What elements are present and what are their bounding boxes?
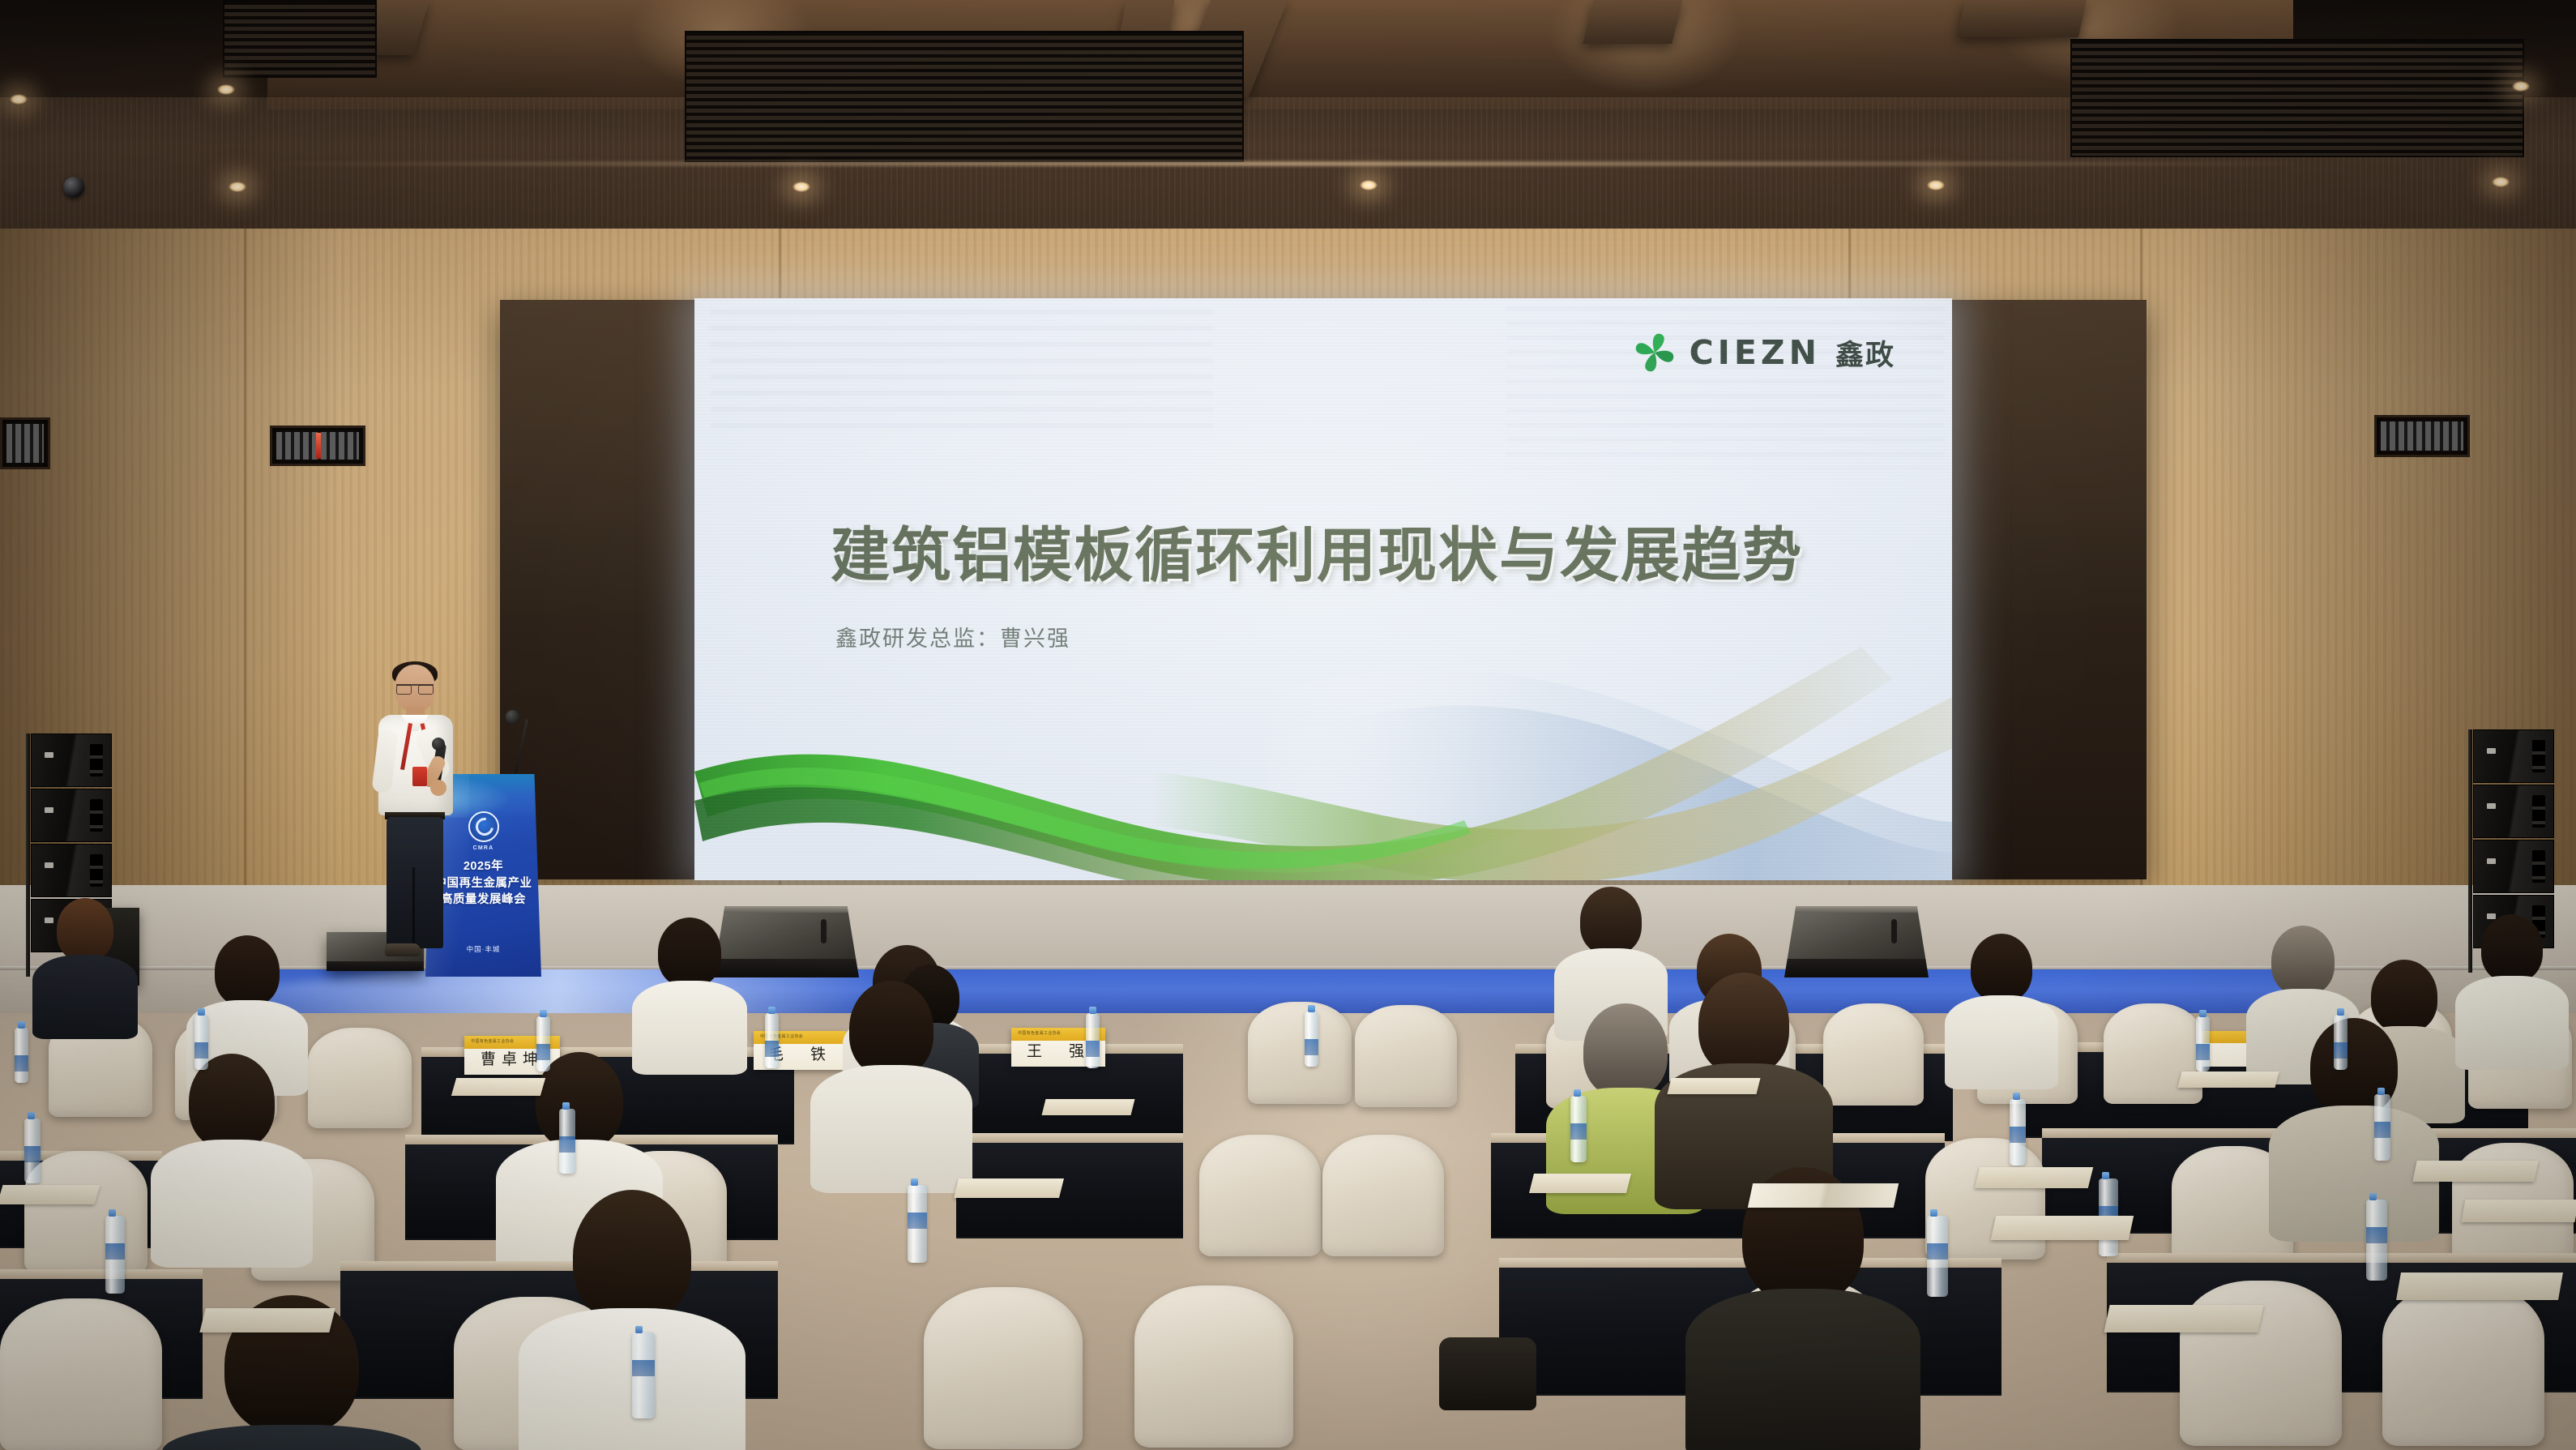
water-bottle	[908, 1185, 927, 1263]
presenter-shoe	[385, 943, 421, 956]
speaker-badge	[45, 807, 53, 813]
logo-chinese-name: 鑫政	[1835, 332, 1895, 374]
ceiling-downlight	[229, 182, 246, 192]
conference-hall-photo: CIEZN 鑫政 建筑铝模板循环利用现状与发展趋势 鑫政研发总监：曹兴强	[0, 0, 2576, 1450]
notepad	[1529, 1174, 1631, 1193]
speaker-rigging	[26, 734, 30, 977]
placard-band-text: 中国有色金属工业协会	[471, 1038, 514, 1044]
audience-torso	[151, 1140, 313, 1268]
ceiling-downlight	[2492, 177, 2510, 187]
audience-head	[2481, 914, 2543, 982]
notepad	[954, 1178, 1064, 1198]
slide-subtitle: 鑫政研发总监：曹兴强	[835, 621, 1070, 652]
chair	[1199, 1135, 1321, 1256]
cmra-circle-icon	[468, 811, 499, 842]
ceiling-downlight	[10, 94, 28, 105]
water-bottle	[1086, 1013, 1100, 1068]
notepad	[2462, 1200, 2576, 1222]
monitor-top	[713, 906, 859, 913]
audience-head	[2271, 926, 2335, 995]
audience-torso	[810, 1065, 972, 1193]
speaker-badge	[2487, 858, 2496, 864]
audience-person	[632, 917, 747, 1068]
audience-torso	[1685, 1289, 1920, 1450]
ceiling-air-vent	[223, 0, 377, 78]
chair	[308, 1028, 412, 1128]
table-surface	[2107, 1253, 2576, 1263]
ceiling-air-vent	[2070, 39, 2524, 157]
water-bottle	[105, 1216, 125, 1294]
water-bottle	[1927, 1216, 1948, 1297]
cmra-arc	[472, 815, 497, 840]
screen-ghost-artifact	[711, 310, 1213, 431]
audience-torso	[1945, 995, 2058, 1089]
water-bottle	[632, 1332, 655, 1418]
speaker-badge	[2487, 803, 2496, 809]
notepad	[2178, 1071, 2279, 1088]
monitor-handle	[821, 919, 827, 943]
ceiling-downlight	[1927, 180, 1945, 190]
audience-person	[1685, 1167, 1920, 1450]
open-document	[1748, 1183, 1899, 1208]
water-bottle	[2334, 1015, 2347, 1070]
ceiling-downlight	[217, 84, 235, 95]
chair	[1248, 1002, 1352, 1104]
stage-monitor-speaker	[1784, 906, 1929, 977]
audience-head	[1971, 934, 2032, 1002]
water-bottle	[1570, 1096, 1587, 1162]
chair	[1355, 1005, 1457, 1107]
water-bottle	[194, 1015, 208, 1070]
notepad	[1991, 1216, 2134, 1240]
wall-display-fixture	[270, 426, 365, 466]
speaker-badge	[45, 752, 53, 758]
notepad	[199, 1308, 335, 1332]
fixture-fins	[6, 424, 44, 463]
audience-head	[849, 981, 933, 1076]
water-bottle	[559, 1109, 575, 1174]
placard-band-text: 中国有色金属工业协会	[1018, 1030, 1061, 1036]
monitor-handle	[1891, 919, 1897, 943]
notepad	[2396, 1272, 2563, 1300]
notepad	[451, 1078, 545, 1096]
notepad	[1975, 1167, 2093, 1188]
fixture-fins	[2381, 421, 2463, 451]
slide-brand-logo: CIEZN 鑫政	[1631, 329, 1895, 376]
speaker-cabinet	[2473, 840, 2554, 893]
audience-head	[215, 935, 280, 1007]
table-surface	[0, 1269, 203, 1279]
presenter-trousers	[387, 817, 443, 948]
water-bottle	[765, 1013, 779, 1068]
chair	[0, 1298, 162, 1450]
wall-display-fixture	[2374, 415, 2470, 457]
notepad	[1668, 1078, 1761, 1094]
presenter-badge	[412, 767, 427, 786]
audience-person	[151, 1054, 313, 1256]
presentation-screen: CIEZN 鑫政 建筑铝模板循环利用现状与发展趋势 鑫政研发总监：曹兴强	[694, 298, 1952, 880]
table-surface	[956, 1133, 1183, 1143]
speaker-badge	[2487, 748, 2496, 754]
audience-head	[1580, 887, 1642, 955]
audience-head	[573, 1190, 691, 1323]
floor-bag	[1439, 1337, 1536, 1410]
water-bottle	[536, 1016, 550, 1071]
ciezn-pinwheel-icon	[1631, 329, 1678, 376]
ceiling-downlight	[792, 182, 810, 192]
podium-microphone-icon	[506, 710, 519, 724]
speaker-cabinet	[31, 844, 112, 897]
audience-torso	[2455, 976, 2569, 1070]
water-bottle	[2366, 1200, 2387, 1281]
audience-person	[2455, 914, 2569, 1063]
audience-person	[810, 981, 972, 1183]
notepad	[2412, 1161, 2539, 1182]
slide-wave-graphic	[694, 613, 1952, 880]
slide-title: 建筑铝模板循环利用现状与发展趋势	[831, 507, 1803, 593]
audience-head	[1698, 973, 1789, 1075]
water-bottle	[1305, 1012, 1318, 1067]
ceiling-downlight	[2512, 81, 2530, 92]
microphone-head	[432, 738, 445, 751]
speaker-badge	[45, 862, 53, 868]
speaker-cabinet	[2473, 729, 2554, 783]
screen-bezel-right	[1952, 300, 2147, 879]
ceiling-camera-dome-icon	[63, 177, 84, 198]
chair	[1322, 1135, 1444, 1256]
ceiling-beam	[1957, 0, 2087, 37]
chair	[1823, 1003, 1924, 1106]
audience-person	[2269, 1018, 2439, 1230]
audience-head	[658, 917, 721, 987]
cmra-wordmark: CMRA	[473, 845, 494, 851]
notepad	[2104, 1305, 2263, 1332]
ceiling-cove-glow	[267, 162, 2309, 165]
audience-head	[57, 898, 113, 961]
presenter-speaker	[369, 665, 466, 973]
speaker-cabinet	[31, 734, 112, 787]
speaker-cabinet	[2473, 785, 2554, 838]
chair	[2382, 1284, 2544, 1446]
chair	[1134, 1285, 1293, 1448]
ceiling-air-vent	[685, 31, 1244, 162]
water-bottle	[2196, 1016, 2210, 1071]
trouser-seam	[412, 867, 415, 948]
ceiling-beam	[1583, 0, 1682, 44]
logo-wordmark: CIEZN	[1690, 333, 1821, 372]
water-bottle	[24, 1119, 41, 1183]
audience-torso	[32, 955, 138, 1039]
audience-person	[32, 898, 138, 1036]
water-bottle	[2010, 1099, 2026, 1166]
fixture-indicator	[316, 433, 321, 459]
audience-person	[1945, 934, 2058, 1084]
chair	[2104, 1003, 2202, 1104]
ceiling-downlight	[1360, 180, 1378, 190]
water-bottle	[2374, 1094, 2390, 1161]
water-bottle	[15, 1028, 28, 1083]
notepad	[0, 1185, 100, 1204]
notepad	[1042, 1099, 1135, 1115]
glasses-icon	[396, 684, 434, 692]
chair	[924, 1287, 1083, 1449]
wall-display-fixture	[0, 417, 50, 469]
speaker-cabinet	[31, 789, 112, 842]
chair	[24, 1151, 147, 1272]
audience-torso	[162, 1425, 421, 1450]
monitor-top	[1784, 906, 1929, 913]
presenter-hand	[430, 780, 446, 796]
